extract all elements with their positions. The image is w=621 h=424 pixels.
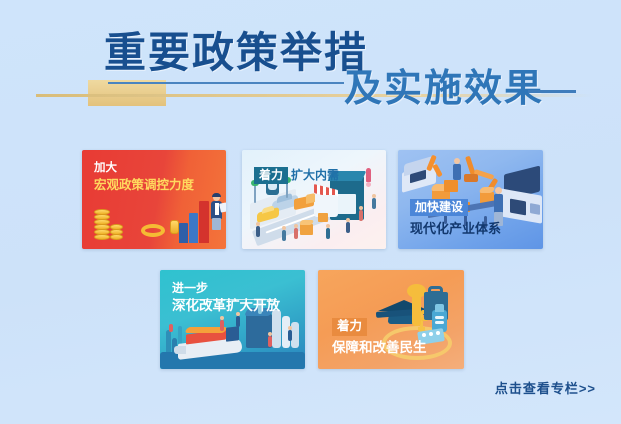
illustration-isometric-city-retail xyxy=(242,150,386,249)
card3-label-bottom: 现代化产业体系 xyxy=(410,221,501,236)
page-title: 重要政策举措 xyxy=(104,32,368,74)
card3-label-top: 加快建设 xyxy=(410,199,468,216)
card3-label: 加快建设 现代化产业体系 xyxy=(410,198,501,236)
policy-card-macro-regulation[interactable]: 加大 宏观政策调控力度 xyxy=(82,150,226,249)
title-blue-underline xyxy=(108,82,344,84)
title-blue-dash xyxy=(528,90,576,93)
policy-card-expand-demand[interactable]: 着力扩大内需 xyxy=(242,150,386,249)
card5-label-top: 着力 xyxy=(332,318,367,336)
card5-label: 着力 保障和改善民生 xyxy=(332,317,427,356)
card2-label-bottom: 扩大内需 xyxy=(291,168,339,182)
card4-label-top: 进一步 xyxy=(172,281,280,295)
policy-card-livelihood[interactable]: 着力 保障和改善民生 xyxy=(318,270,464,369)
card4-label-bottom: 深化改革扩大开放 xyxy=(172,298,280,314)
view-column-link[interactable]: 点击查看专栏>> xyxy=(495,378,596,397)
title-block: 重要政策举措 及实施效果 xyxy=(0,28,621,128)
poster-canvas: 重要政策举措 及实施效果 xyxy=(0,0,621,424)
card1-label-bottom: 宏观政策调控力度 xyxy=(94,178,194,193)
card2-label: 着力扩大内需 xyxy=(254,167,339,184)
card1-label: 加大 宏观政策调控力度 xyxy=(94,162,194,192)
card4-label: 进一步 深化改革扩大开放 xyxy=(172,281,280,314)
card2-label-top: 着力 xyxy=(254,167,288,184)
card1-label-top: 加大 xyxy=(94,162,194,176)
policy-card-reform-opening[interactable]: 进一步 深化改革扩大开放 xyxy=(160,270,305,369)
page-subtitle: 及实施效果 xyxy=(344,70,544,108)
policy-card-modern-industry[interactable]: 加快建设 现代化产业体系 xyxy=(398,150,543,249)
card5-label-bottom: 保障和改善民生 xyxy=(332,340,427,356)
